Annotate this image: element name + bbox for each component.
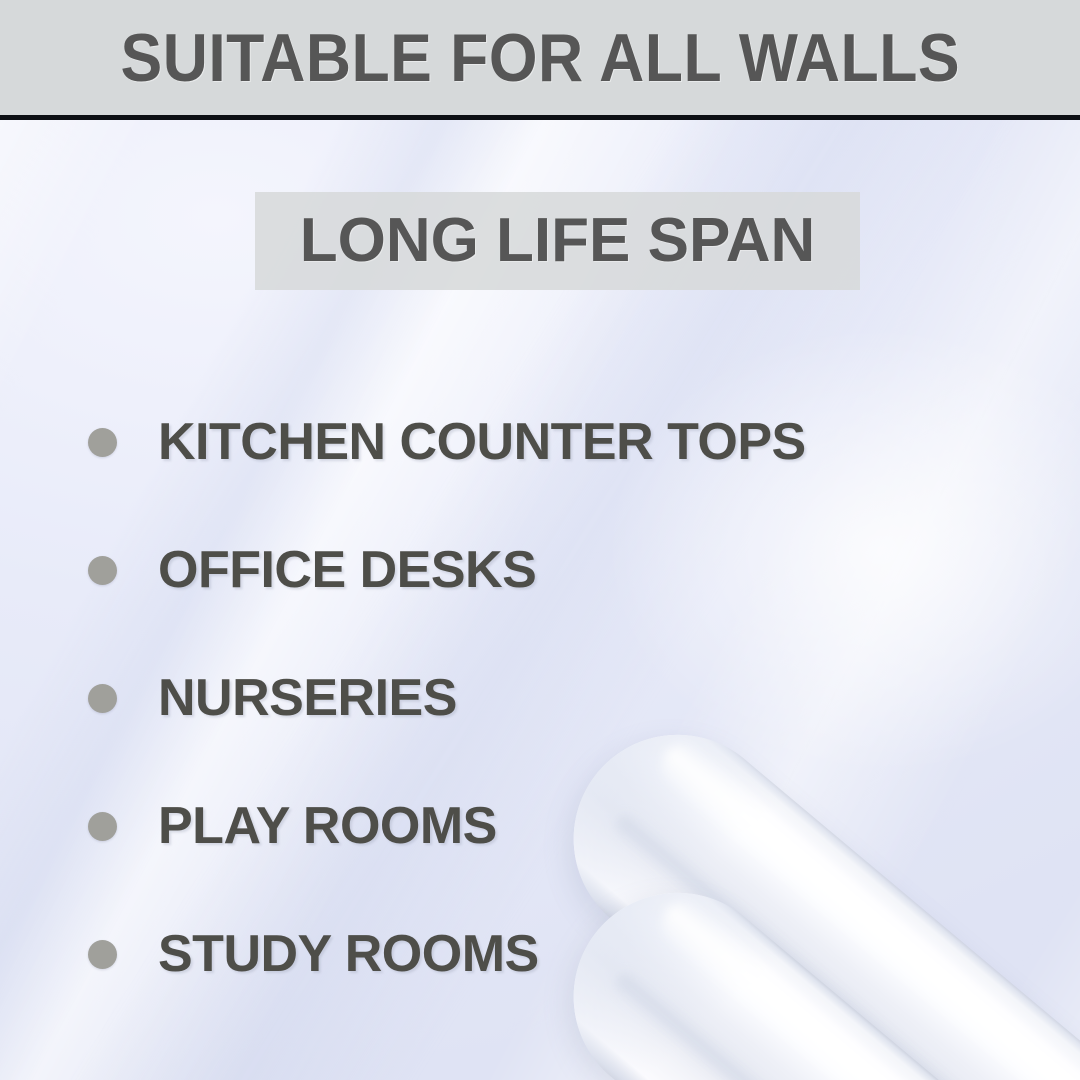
bullet-dot-icon — [88, 556, 117, 585]
subhead-band: LONG LIFE SPAN — [255, 192, 860, 290]
subhead-title: LONG LIFE SPAN — [300, 210, 816, 272]
bullet-dot-icon — [88, 684, 117, 713]
list-item: NURSERIES — [88, 634, 848, 762]
list-item: OFFICE DESKS — [88, 506, 848, 634]
header-divider-rule — [0, 115, 1080, 120]
header-banner: SUITABLE FOR ALL WALLS — [0, 0, 1080, 115]
feature-label: KITCHEN COUNTER TOPS — [158, 416, 806, 468]
product-feature-banner: SUITABLE FOR ALL WALLS LONG LIFE SPAN KI… — [0, 0, 1080, 1080]
list-item: STUDY ROOMS — [88, 890, 848, 1018]
feature-label: NURSERIES — [158, 672, 457, 724]
feature-label: PLAY ROOMS — [158, 800, 497, 852]
feature-list: KITCHEN COUNTER TOPS OFFICE DESKS NURSER… — [88, 378, 848, 1018]
bullet-dot-icon — [88, 940, 117, 969]
list-item: KITCHEN COUNTER TOPS — [88, 378, 848, 506]
header-title: SUITABLE FOR ALL WALLS — [120, 24, 960, 92]
feature-label: OFFICE DESKS — [158, 544, 536, 596]
feature-label: STUDY ROOMS — [158, 928, 539, 980]
bullet-dot-icon — [88, 428, 117, 457]
bullet-dot-icon — [88, 812, 117, 841]
list-item: PLAY ROOMS — [88, 762, 848, 890]
